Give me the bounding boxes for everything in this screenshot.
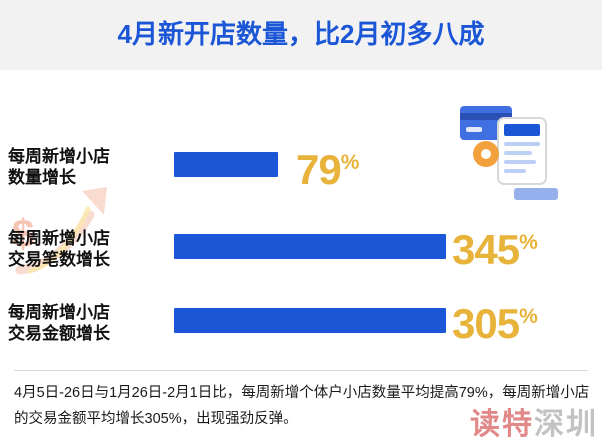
- footnote-text: 4月5日-26日与1月26日-2月1日比，每周新增个体户小店数量平均提高79%，…: [14, 380, 590, 432]
- bar-value-label-2: 345%: [452, 222, 538, 271]
- footnote-divider: [14, 370, 588, 371]
- bar-value-label-1: 79%: [296, 142, 359, 191]
- bar-value-3: [174, 308, 446, 333]
- bar-chart: 每周新增小店 数量增长 79% 每周新增小店 交易笔数增长 345% 每周新增小…: [0, 78, 602, 366]
- bar-value-2: [174, 234, 446, 259]
- page-title: 4月新开店数量，比2月初多八成: [0, 14, 602, 51]
- bar-category-label: 每周新增小店 交易笔数增长: [8, 228, 168, 270]
- bar-value-label-3: 305%: [452, 296, 538, 345]
- chart-row: 每周新增小店 数量增长 79%: [0, 144, 602, 206]
- chart-row: 每周新增小店 交易笔数增长 345%: [0, 226, 602, 288]
- bar-category-label: 每周新增小店 数量增长: [8, 146, 168, 188]
- infographic-page: 4月新开店数量，比2月初多八成 $: [0, 0, 602, 445]
- bar-category-label: 每周新增小店 交易金额增长: [8, 302, 168, 344]
- chart-row: 每周新增小店 交易金额增长 305%: [0, 300, 602, 362]
- bar-value-1: [174, 152, 278, 177]
